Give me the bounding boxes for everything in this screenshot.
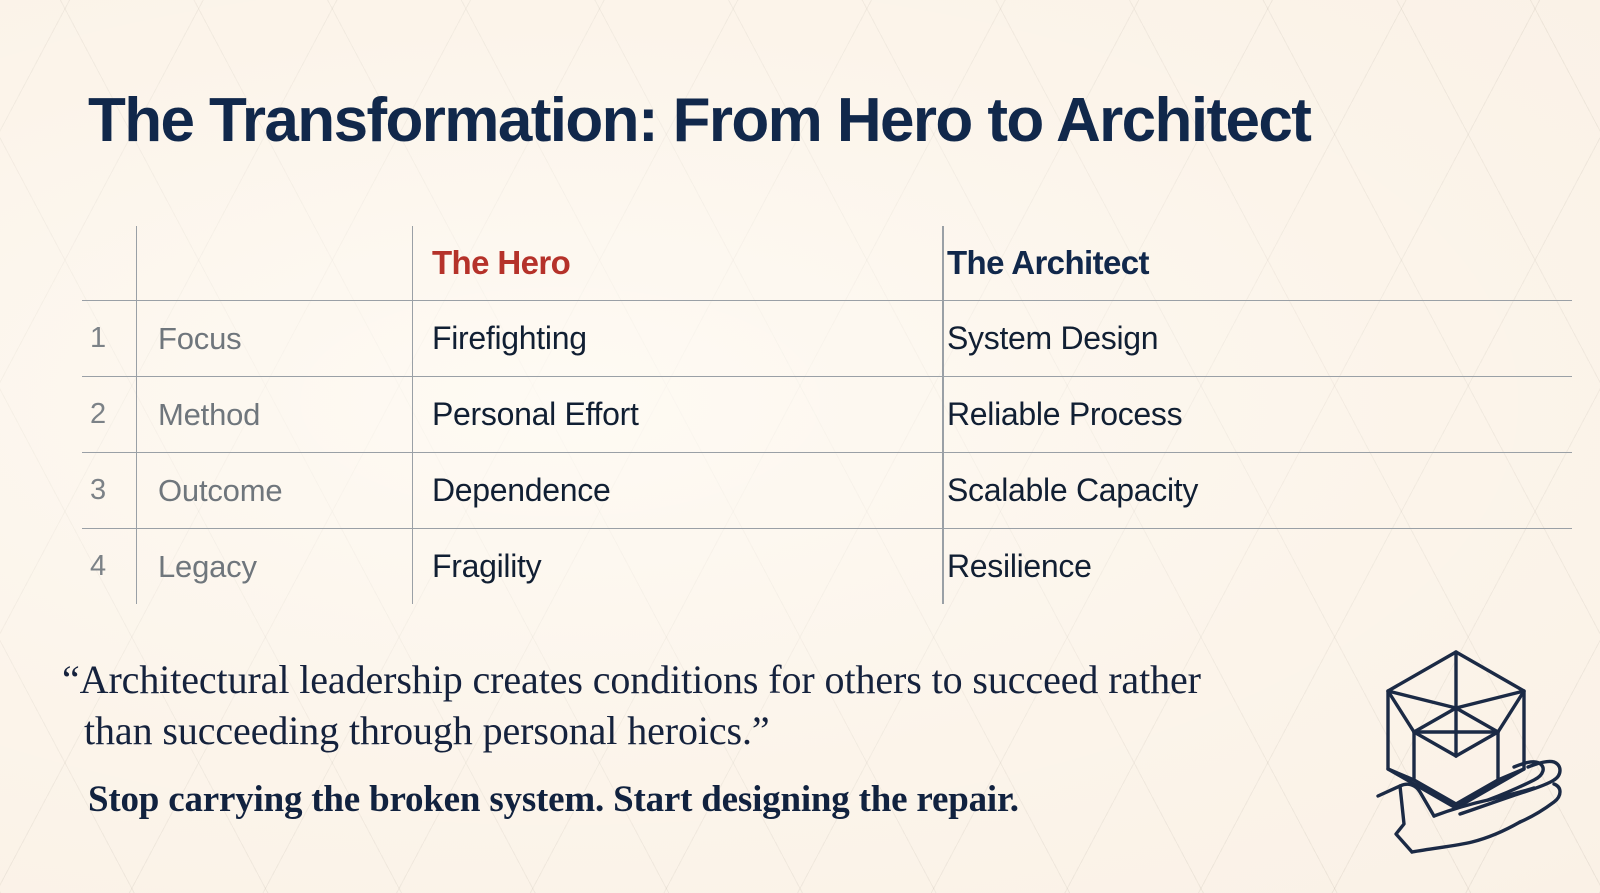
row-hero: Firefighting [412,301,928,376]
row-hero: Fragility [412,529,928,604]
closing-tagline: Stop carrying the broken system. Start d… [88,778,1262,822]
pull-quote: “Architectural leadership creates condit… [62,654,1262,756]
header-cell-hero: The Hero [412,226,928,300]
table-row: 2 Method Personal Effort Reliable Proces… [82,376,1572,452]
row-label: Method [136,377,412,452]
row-hero: Dependence [412,453,928,528]
row-architect: Reliable Process [928,377,1572,452]
row-number: 3 [82,453,136,528]
page-title: The Transformation: From Hero to Archite… [88,88,1528,153]
slide-canvas: The Transformation: From Hero to Archite… [0,0,1600,893]
table-row: 1 Focus Firefighting System Design [82,300,1572,376]
row-label: Outcome [136,453,412,528]
footer-text-block: “Architectural leadership creates condit… [62,654,1262,823]
comparison-table: The Hero The Architect 1 Focus Firefight… [82,226,1572,604]
table-header-row: The Hero The Architect [82,226,1572,300]
table-row: 3 Outcome Dependence Scalable Capacity [82,452,1572,528]
header-cell-number [82,226,136,300]
row-architect: Scalable Capacity [928,453,1572,528]
row-architect: Resilience [928,529,1572,604]
table-row: 4 Legacy Fragility Resilience [82,528,1572,604]
row-number: 4 [82,529,136,604]
row-label: Legacy [136,529,412,604]
header-cell-architect: The Architect [928,226,1572,300]
row-number: 2 [82,377,136,452]
header-cell-dimension [136,226,412,300]
hand-holding-cube-icon [1338,634,1574,858]
row-label: Focus [136,301,412,376]
row-architect: System Design [928,301,1572,376]
row-hero: Personal Effort [412,377,928,452]
row-number: 1 [82,301,136,376]
